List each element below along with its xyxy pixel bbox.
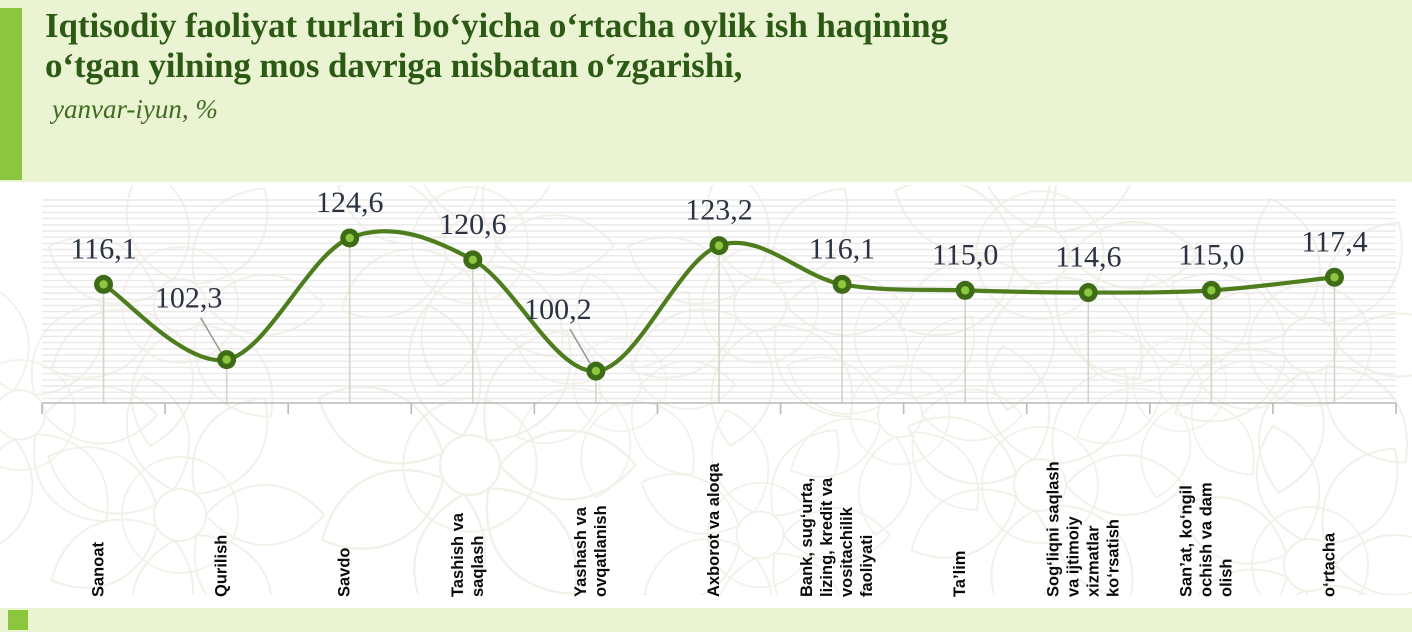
chart-value-label: 120,6: [439, 208, 507, 241]
chart-category-label: ochish va dam: [1197, 482, 1215, 597]
chart-category-label: vositachilik: [838, 506, 856, 597]
chart-category-label: saqlash: [469, 536, 487, 597]
header-accent-bar: [0, 8, 22, 180]
chart-value-label: 116,1: [809, 232, 875, 265]
chart-value-label: 116,1: [70, 232, 136, 265]
chart-category-label: Savdo: [336, 547, 354, 597]
chart-category-label: va ijtimoiy: [1064, 515, 1082, 597]
page-subtitle: yanvar-iyun, %: [45, 94, 1375, 124]
chart-category-label: o‘rtacha: [1321, 532, 1339, 597]
chart-category-labels: SanoatQurilishSavdoTashish vasaqlashYash…: [90, 461, 1339, 597]
footer-panel: [0, 608, 1412, 632]
chart-category-label: olish: [1217, 558, 1235, 597]
title-block: Iqtisodiy faoliyat turlari bo‘yicha o‘rt…: [45, 6, 1375, 124]
chart-value-label: 124,6: [316, 186, 384, 219]
chart-value-label: 115,0: [1178, 238, 1244, 271]
chart-value-label: 117,4: [1301, 225, 1367, 258]
chart-category-label: Yashash va: [572, 506, 590, 597]
chart-category-label: Ta’lim: [951, 551, 969, 597]
chart-category-label: Axborot va aloqa: [705, 462, 723, 597]
chart-x-axis-ticks: [42, 403, 1396, 414]
chart-category-label: lizing, kredit va: [818, 477, 836, 597]
page-title-line-1: Iqtisodiy faoliyat turlari bo‘yicha o‘rt…: [45, 6, 1375, 46]
chart-value-label: 123,2: [685, 194, 753, 227]
footer-accent-square: [8, 610, 28, 630]
chart-category-label: xizmatlar: [1084, 525, 1102, 597]
chart-category-label: Sog‘liqni saqlash: [1044, 461, 1062, 597]
line-chart: 116,1102,3124,6120,6100,2123,2116,1115,0…: [0, 182, 1412, 608]
chart-category-label: Tashish va: [449, 512, 467, 597]
chart-header-panel: Iqtisodiy faoliyat turlari bo‘yicha o‘rt…: [0, 0, 1412, 182]
chart-value-label: 115,0: [932, 238, 998, 271]
chart-category-label: Qurilish: [213, 535, 231, 597]
chart-droplines: [104, 238, 1335, 403]
chart-value-label: 102,3: [155, 282, 223, 315]
chart-category-label: faoliyati: [858, 535, 876, 597]
chart-value-label: 100,2: [524, 293, 592, 326]
chart-category-label: ovqatlanish: [592, 505, 610, 597]
chart-category-label: Bank, sug‘urta,: [798, 478, 816, 597]
chart-category-label: ko‘rsatish: [1104, 519, 1122, 597]
chart-category-label: Sanoat: [90, 541, 108, 597]
page-title-line-2: o‘tgan yilning mos davriga nisbatan o‘zg…: [45, 46, 1375, 86]
chart-value-label: 114,6: [1055, 241, 1121, 274]
chart-category-label: San’at, ko‘ngil: [1177, 485, 1195, 597]
